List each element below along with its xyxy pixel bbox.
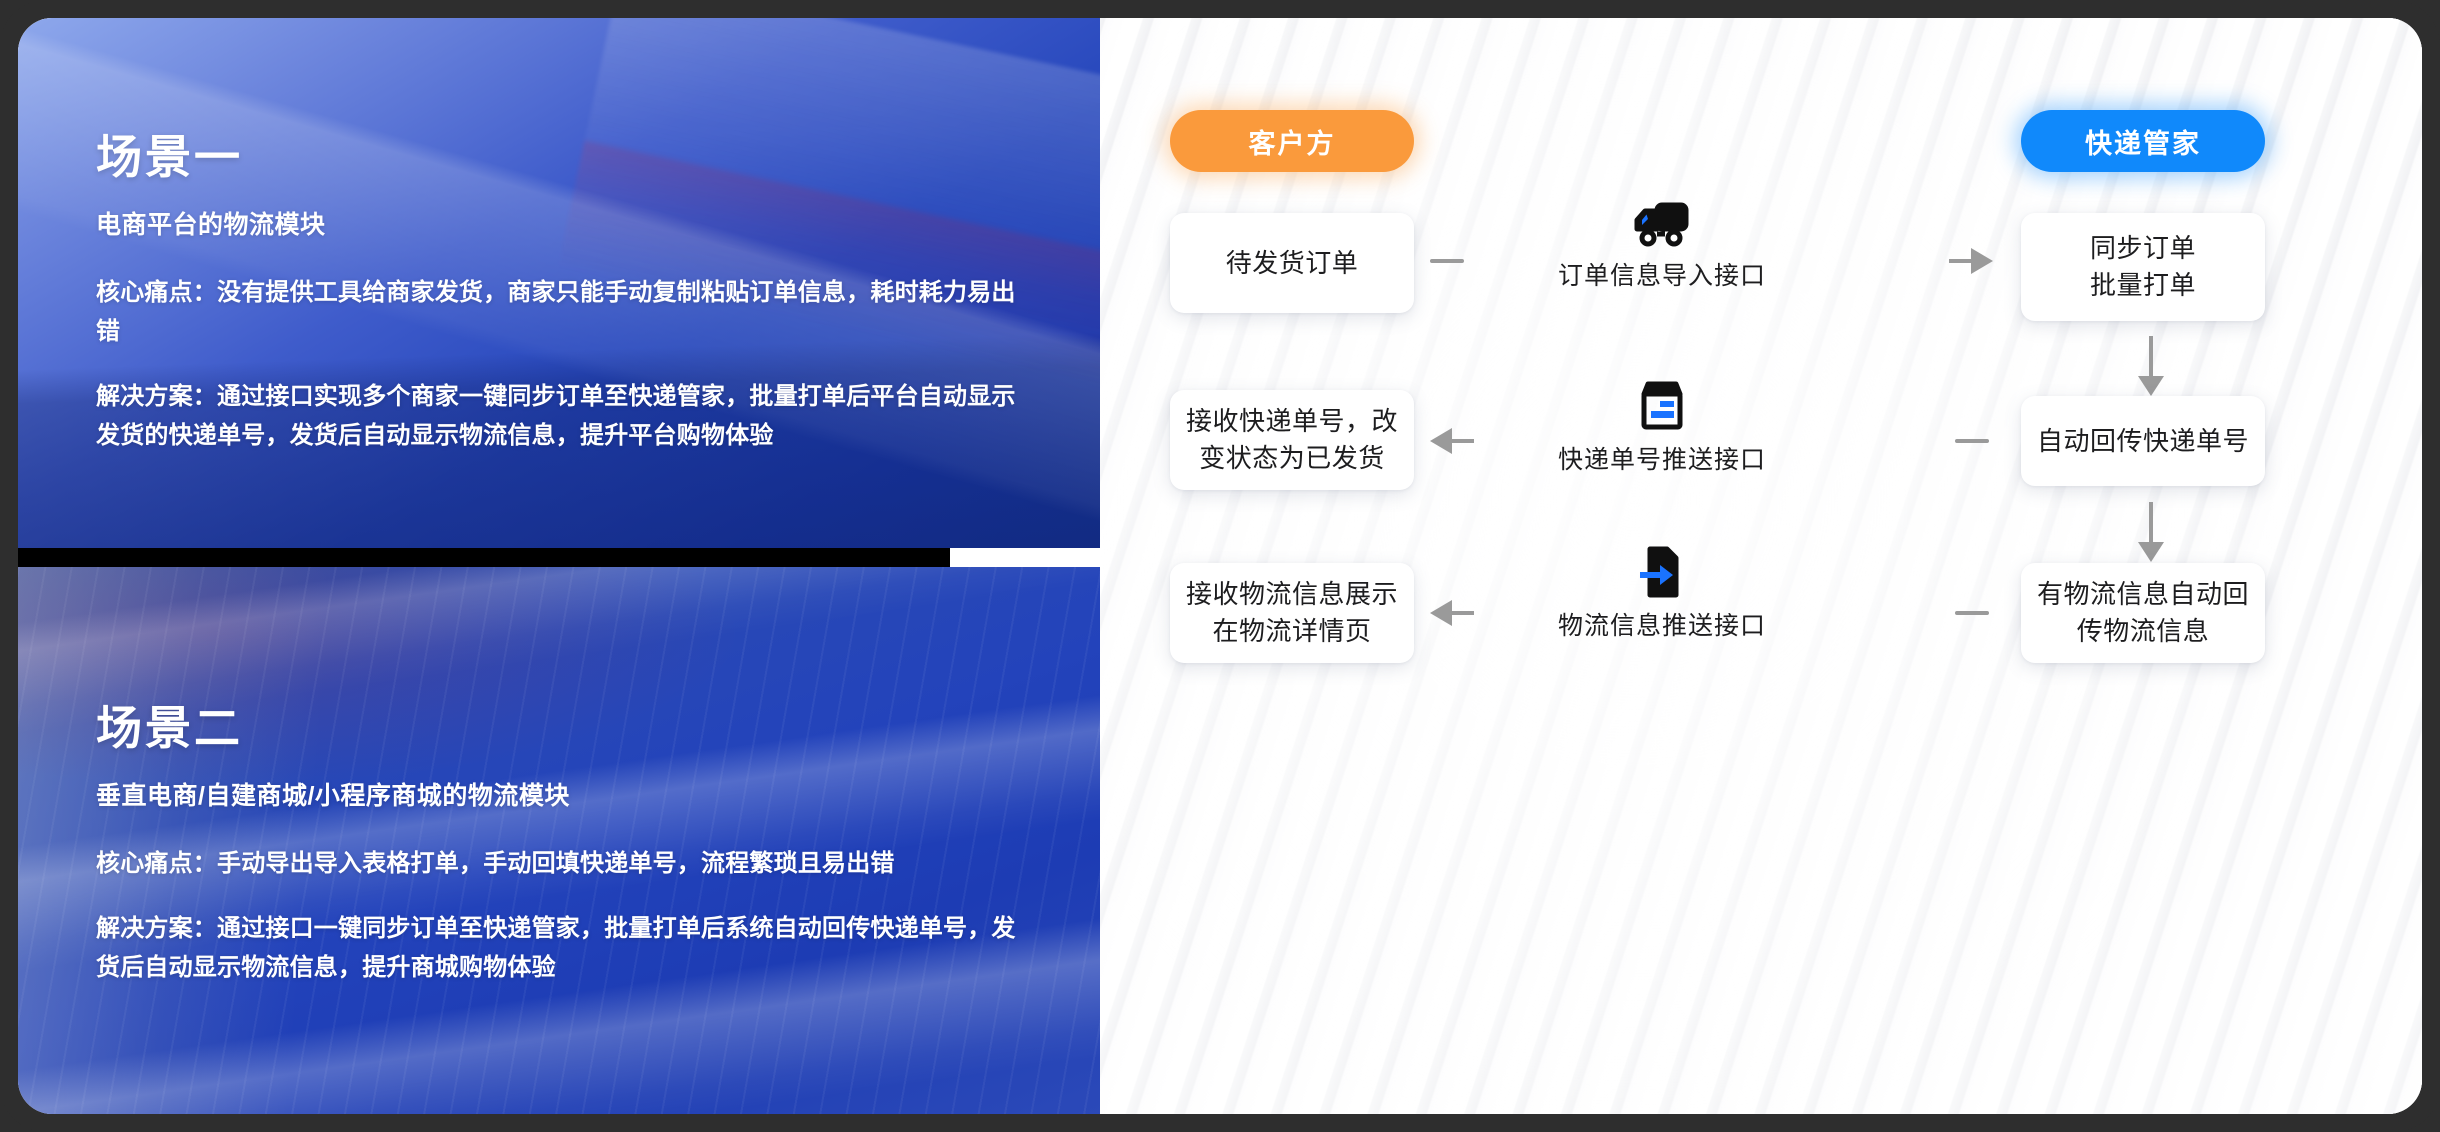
flow-diagram-panel: 客户方 快递管家 待发货订单 — [1100, 18, 2422, 1114]
flow-card-left-3[interactable]: 接收物流信息展示在物流详情页 — [1170, 563, 1414, 663]
document-arrow-icon — [1640, 536, 1684, 598]
connector-stem-3-left — [1452, 611, 1474, 615]
integration-flow-diagram: 客户方 快递管家 待发货订单 — [1100, 18, 2422, 1114]
interface-label-1: 订单信息导入接口 — [1558, 256, 1766, 292]
scenes-column: 场景一 电商平台的物流模块 核心痛点：没有提供工具给商家发货，商家只能手动复制粘… — [18, 18, 1100, 1114]
scene-1-title: 场景一 — [96, 132, 1022, 183]
arrow-down-icon-2 — [2138, 502, 2164, 562]
flow-card-right-1-lines: 同步订单 批量打单 — [2090, 230, 2196, 304]
arrow-down-head-1 — [2138, 376, 2164, 396]
scene-1-subtitle: 电商平台的物流模块 — [96, 209, 1022, 243]
arrow-down-head-2 — [2138, 542, 2164, 562]
content-stage: 场景一 电商平台的物流模块 核心痛点：没有提供工具给商家发货，商家只能手动复制粘… — [18, 18, 2422, 1114]
scene-2-title: 场景二 — [96, 703, 1022, 754]
scene-1-solution: 解决方案：通过接口实现多个商家一键同步订单至快递管家，批量打单后平台自动显示发货… — [96, 378, 1022, 456]
outer-device-frame: 场景一 电商平台的物流模块 核心痛点：没有提供工具给商家发货，商家只能手动复制粘… — [0, 0, 2440, 1132]
arrow-down-stem-2 — [2149, 502, 2153, 542]
connector-stem-2-left — [1452, 439, 1474, 443]
truck-icon — [1633, 186, 1691, 248]
interface-group-3: 物流信息推送接口 — [1497, 536, 1827, 642]
arrow-down-stem-1 — [2149, 336, 2153, 376]
scene-2-pain-point: 核心痛点：手动导出导入表格打单，手动回填快递单号，流程繁琐且易出错 — [96, 845, 1022, 884]
arrow-down-icon-1 — [2138, 336, 2164, 396]
flow-card-left-2[interactable]: 接收快递单号，改变状态为已发货 — [1170, 390, 1414, 490]
courier-manager-pill-label: 快递管家 — [2085, 122, 2201, 161]
flow-card-right-2[interactable]: 自动回传快递单号 — [2021, 396, 2265, 486]
scene-1-content: 场景一 电商平台的物流模块 核心痛点：没有提供工具给商家发货，商家只能手动复制粘… — [18, 18, 1100, 548]
arrow-left-icon-3 — [1430, 600, 1452, 626]
client-side-pill-label: 客户方 — [1249, 122, 1336, 161]
connector-segment-3-right — [1955, 611, 1989, 615]
scene-2-content: 场景二 垂直电商/自建商城/小程序商城的物流模块 核心痛点：手动导出导入表格打单… — [18, 567, 1100, 1114]
scene-2-solution: 解决方案：通过接口一键同步订单至快递管家，批量打单后系统自动回传快递单号，发货后… — [96, 910, 1022, 988]
client-side-pill[interactable]: 客户方 — [1170, 110, 1414, 172]
scene-card-2: 场景二 垂直电商/自建商城/小程序商城的物流模块 核心痛点：手动导出导入表格打单… — [18, 567, 1100, 1114]
arrow-right-icon-1 — [1971, 248, 1993, 274]
connector-segment-2-right — [1955, 439, 1989, 443]
flow-card-right-3[interactable]: 有物流信息自动回传物流信息 — [2021, 563, 2265, 663]
interface-group-2: 快递单号推送接口 — [1497, 370, 1827, 476]
interface-label-2: 快递单号推送接口 — [1558, 440, 1766, 476]
interface-label-3: 物流信息推送接口 — [1558, 606, 1766, 642]
scene-card-1: 场景一 电商平台的物流模块 核心痛点：没有提供工具给商家发货，商家只能手动复制粘… — [18, 18, 1100, 548]
connector-segment-1-left — [1430, 259, 1464, 263]
flow-card-right-1-line2: 批量打单 — [2090, 267, 2196, 304]
scene-divider-bar — [18, 548, 950, 567]
scene-1-pain-point: 核心痛点：没有提供工具给商家发货，商家只能手动复制粘贴订单信息，耗时耗力易出错 — [96, 274, 1022, 352]
scene-2-subtitle: 垂直电商/自建商城/小程序商城的物流模块 — [96, 780, 1022, 814]
connector-stem-1-right — [1949, 259, 1971, 263]
flow-card-left-1[interactable]: 待发货订单 — [1170, 213, 1414, 313]
interface-group-1: 订单信息导入接口 — [1497, 186, 1827, 292]
flow-card-right-1-line1: 同步订单 — [2090, 230, 2196, 267]
arrow-left-icon-2 — [1430, 428, 1452, 454]
courier-manager-pill[interactable]: 快递管家 — [2021, 110, 2265, 172]
flow-card-right-1[interactable]: 同步订单 批量打单 — [2021, 213, 2265, 321]
package-icon — [1638, 370, 1686, 432]
